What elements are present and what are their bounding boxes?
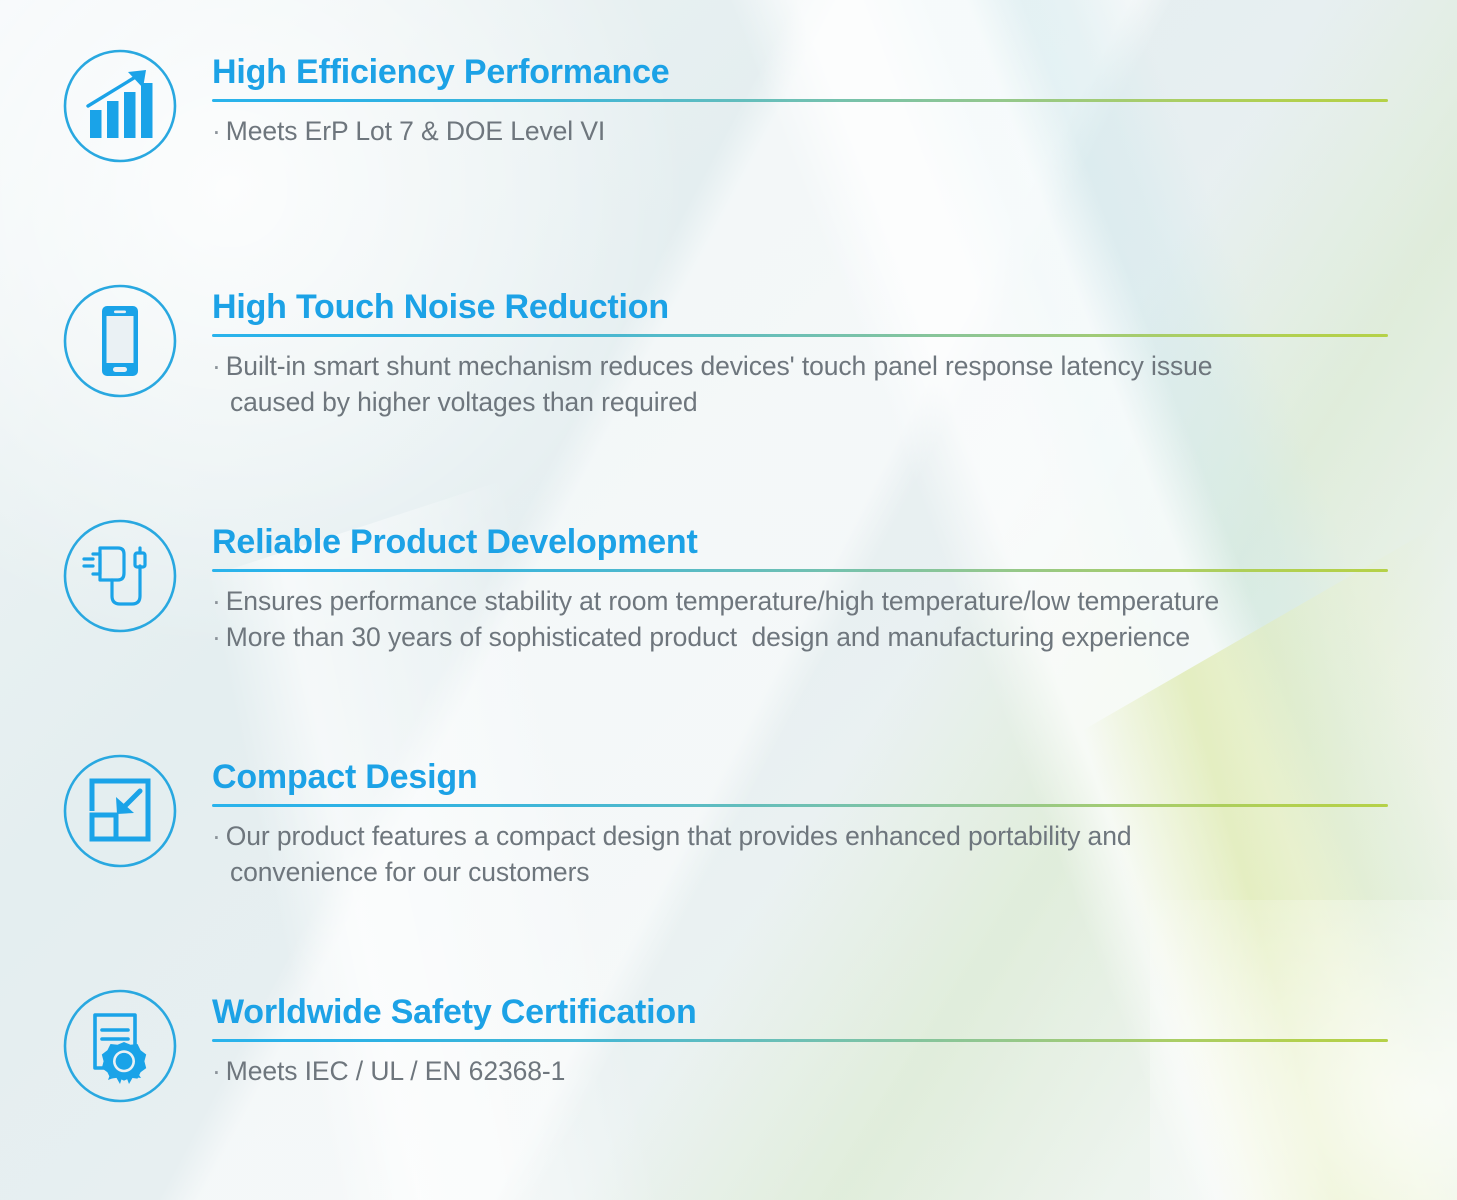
feature-bullets: ·Our product features a compact design t… [212, 818, 1388, 891]
bullet-text: Built-in smart shunt mechanism reduces d… [226, 351, 1213, 381]
feature-body: Compact Design ·Our product features a c… [212, 759, 1388, 891]
bullet-line: ·Meets IEC / UL / EN 62368-1 [212, 1053, 1388, 1090]
bar-chart-growth-icon [62, 48, 178, 164]
feature-title: High Touch Noise Reduction [212, 289, 1388, 326]
feature-divider [212, 804, 1388, 807]
bullet-text: Meets ErP Lot 7 & DOE Level VI [226, 116, 605, 146]
bullet-line: ·More than 30 years of sophisticated pro… [212, 619, 1388, 656]
bullet-line: ·Built-in smart shunt mechanism reduces … [212, 348, 1388, 385]
feature-body: Reliable Product Development ·Ensures pe… [212, 524, 1388, 656]
feature-body: Worldwide Safety Certification ·Meets IE… [212, 994, 1388, 1089]
bullet-text: convenience for our customers [230, 857, 589, 887]
bullet-line: ·Our product features a compact design t… [212, 818, 1388, 855]
feature-divider [212, 334, 1388, 337]
bullet-dot: · [212, 622, 221, 652]
feature-bullets: ·Ensures performance stability at room t… [212, 583, 1388, 656]
certificate-seal-icon [62, 988, 178, 1104]
bullet-text: More than 30 years of sophisticated prod… [226, 622, 1190, 652]
bullet-line: ·Ensures performance stability at room t… [212, 583, 1388, 620]
smartphone-icon [62, 283, 178, 399]
feature-bullets: ·Meets IEC / UL / EN 62368-1 [212, 1053, 1388, 1090]
bullet-line: ·Meets ErP Lot 7 & DOE Level VI [212, 113, 1388, 150]
feature-title: High Efficiency Performance [212, 54, 1388, 91]
feature-divider [212, 569, 1388, 572]
compact-resize-icon [62, 753, 178, 869]
bullet-dot: · [212, 351, 221, 381]
bullet-dot: · [212, 116, 221, 146]
bullet-dot: · [212, 1056, 221, 1086]
bullet-dot: · [212, 821, 221, 851]
feature-divider [212, 1039, 1388, 1042]
power-adapter-icon [62, 518, 178, 634]
bullet-line-continuation: caused by higher voltages than required [212, 384, 1388, 421]
feature-title: Compact Design [212, 759, 1388, 796]
bullet-line-continuation: convenience for our customers [212, 854, 1388, 891]
feature-body: High Efficiency Performance ·Meets ErP L… [212, 54, 1388, 149]
feature-title: Reliable Product Development [212, 524, 1388, 561]
bullet-text: caused by higher voltages than required [230, 387, 698, 417]
feature-divider [212, 99, 1388, 102]
feature-title: Worldwide Safety Certification [212, 994, 1388, 1031]
feature-bullets: ·Built-in smart shunt mechanism reduces … [212, 348, 1388, 421]
feature-highlights-page: High Efficiency Performance ·Meets ErP L… [0, 0, 1457, 1200]
bullet-dot: · [212, 586, 221, 616]
bullet-text: Meets IEC / UL / EN 62368-1 [226, 1056, 566, 1086]
feature-bullets: ·Meets ErP Lot 7 & DOE Level VI [212, 113, 1388, 150]
bullet-text: Ensures performance stability at room te… [226, 586, 1219, 616]
bullet-text: Our product features a compact design th… [226, 821, 1132, 851]
feature-body: High Touch Noise Reduction ·Built-in sma… [212, 289, 1388, 421]
